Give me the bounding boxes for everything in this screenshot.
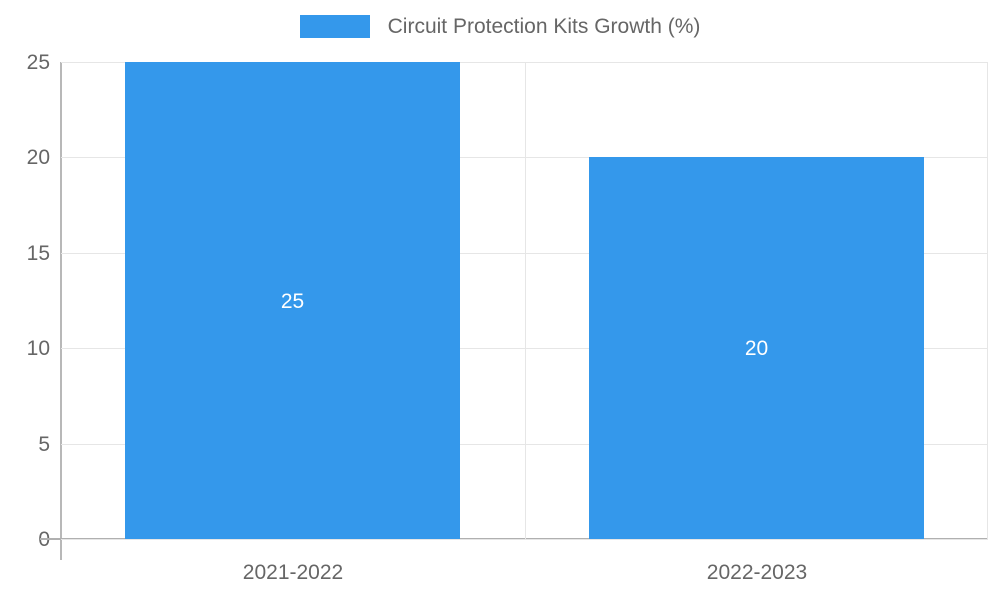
chart-legend: Circuit Protection Kits Growth (%) <box>0 0 1000 52</box>
bar[interactable]: 20 <box>589 157 924 539</box>
legend-item-circuit-protection-kits-growth[interactable]: Circuit Protection Kits Growth (%) <box>300 15 701 38</box>
y-axis-tick-label: 20 <box>6 147 50 168</box>
x-axis-tick-label: 2021-2022 <box>61 558 525 588</box>
bar[interactable]: 25 <box>125 62 460 539</box>
gridline-horizontal <box>61 539 988 540</box>
bar-value-label: 20 <box>589 338 924 359</box>
y-axis-tick-label: 5 <box>6 434 50 455</box>
x-axis-tick-labels: 2021-20222022-2023 <box>61 558 988 592</box>
legend-item-label: Circuit Protection Kits Growth (%) <box>388 15 701 38</box>
y-axis-tick-label: 15 <box>6 243 50 264</box>
x-axis-tick-label: 2022-2023 <box>525 558 989 588</box>
legend-color-swatch <box>300 15 370 38</box>
gridline-vertical <box>525 62 526 539</box>
y-axis-tick-labels: 0510152025 <box>0 0 50 600</box>
gridline-vertical <box>987 62 988 539</box>
bar-value-label: 25 <box>125 291 460 312</box>
plot-area: 2520 <box>61 62 988 539</box>
y-axis-tick-label: 25 <box>6 52 50 73</box>
y-axis-tick-label: 10 <box>6 338 50 359</box>
bar-chart: Circuit Protection Kits Growth (%) 05101… <box>0 0 1000 600</box>
